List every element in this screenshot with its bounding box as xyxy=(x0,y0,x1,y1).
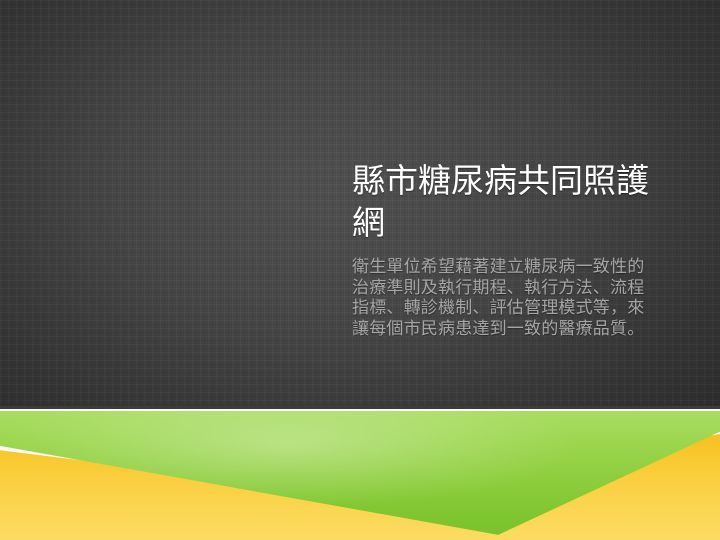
slide-subtitle[interactable]: 衛生單位希望藉著建立糖尿病一致性的治療準則及執行期程、執行方法、流程指標、轉診機… xyxy=(352,244,658,339)
slide-title[interactable]: 縣市糖尿病共同照護網 xyxy=(352,160,658,244)
title-text-block: 縣市糖尿病共同照護網 衛生單位希望藉著建立糖尿病一致性的治療準則及執行期程、執行… xyxy=(352,160,658,339)
decorative-bottom-band xyxy=(0,406,720,540)
band-dark-edge-cap xyxy=(0,406,720,411)
presentation-slide: 縣市糖尿病共同照護網 衛生單位希望藉著建立糖尿病一致性的治療準則及執行期程、執行… xyxy=(0,0,720,540)
